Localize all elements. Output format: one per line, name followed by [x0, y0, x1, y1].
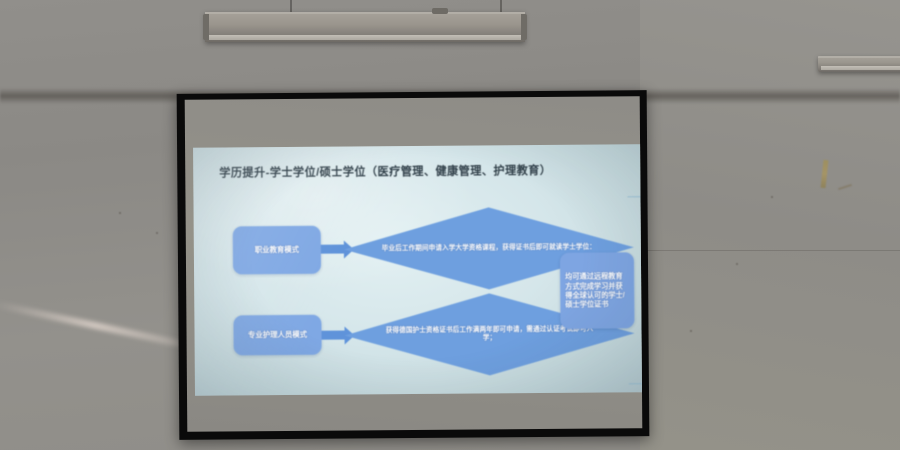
node-label: 均可通过远程教育方式完成学习并获得全球认可的学士/硕士学位证书	[560, 272, 634, 310]
lamp-top-edge	[205, 12, 525, 14]
wall-speck	[771, 196, 773, 198]
lamp-end-cap	[203, 14, 209, 40]
node-label: 毕业后工作期间申请入学大学资格课程，获得证书后即可就读学士学位：	[382, 244, 597, 254]
node-label: 获得德国护士资格证书后工作满两年即可申请，需通过认证考试即可入学；	[382, 326, 597, 344]
wall-speck	[156, 232, 158, 234]
projector-screen: 学历提升-学士学位/硕士学位（医疗管理、健康管理、护理教育） 职业教育模式 专业…	[177, 90, 650, 440]
wall-speck	[690, 330, 692, 332]
wall-seam-line	[645, 250, 900, 251]
node-professional-nurse-mode: 专业护理人员模式	[233, 315, 321, 356]
ceiling-light-fixture-right	[818, 56, 900, 72]
classroom-photo-scene: 学历提升-学士学位/硕士学位（医疗管理、健康管理、护理教育） 职业教育模式 专业…	[0, 0, 900, 450]
lamp-tube	[821, 66, 900, 70]
node-label: 专业护理人员模式	[248, 330, 307, 339]
node-label: 职业教育模式	[255, 245, 299, 254]
arrow-right-icon	[321, 245, 345, 254]
projected-slide: 学历提升-学士学位/硕士学位（医疗管理、健康管理、护理教育） 职业教育模式 专业…	[193, 144, 642, 396]
node-distance-learning-result: 均可通过远程教育方式完成学习并获得全球认可的学士/硕士学位证书	[560, 252, 635, 329]
node-vocational-education-mode: 职业教育模式	[233, 226, 321, 275]
wall-speck	[736, 263, 738, 265]
lamp-mount-bracket	[432, 8, 448, 14]
wall-speck	[119, 212, 121, 214]
lamp-top-edge	[818, 56, 900, 58]
lamp-tube	[208, 35, 522, 40]
projector-screen-surface: 学历提升-学士学位/硕士学位（医疗管理、健康管理、护理教育） 职业教育模式 专业…	[185, 96, 643, 432]
ceiling-light-fixture	[205, 12, 525, 42]
lamp-end-cap	[521, 14, 527, 40]
slide-title: 学历提升-学士学位/硕士学位（医疗管理、健康管理、护理教育）	[219, 162, 551, 181]
arrow-right-icon	[322, 331, 346, 340]
